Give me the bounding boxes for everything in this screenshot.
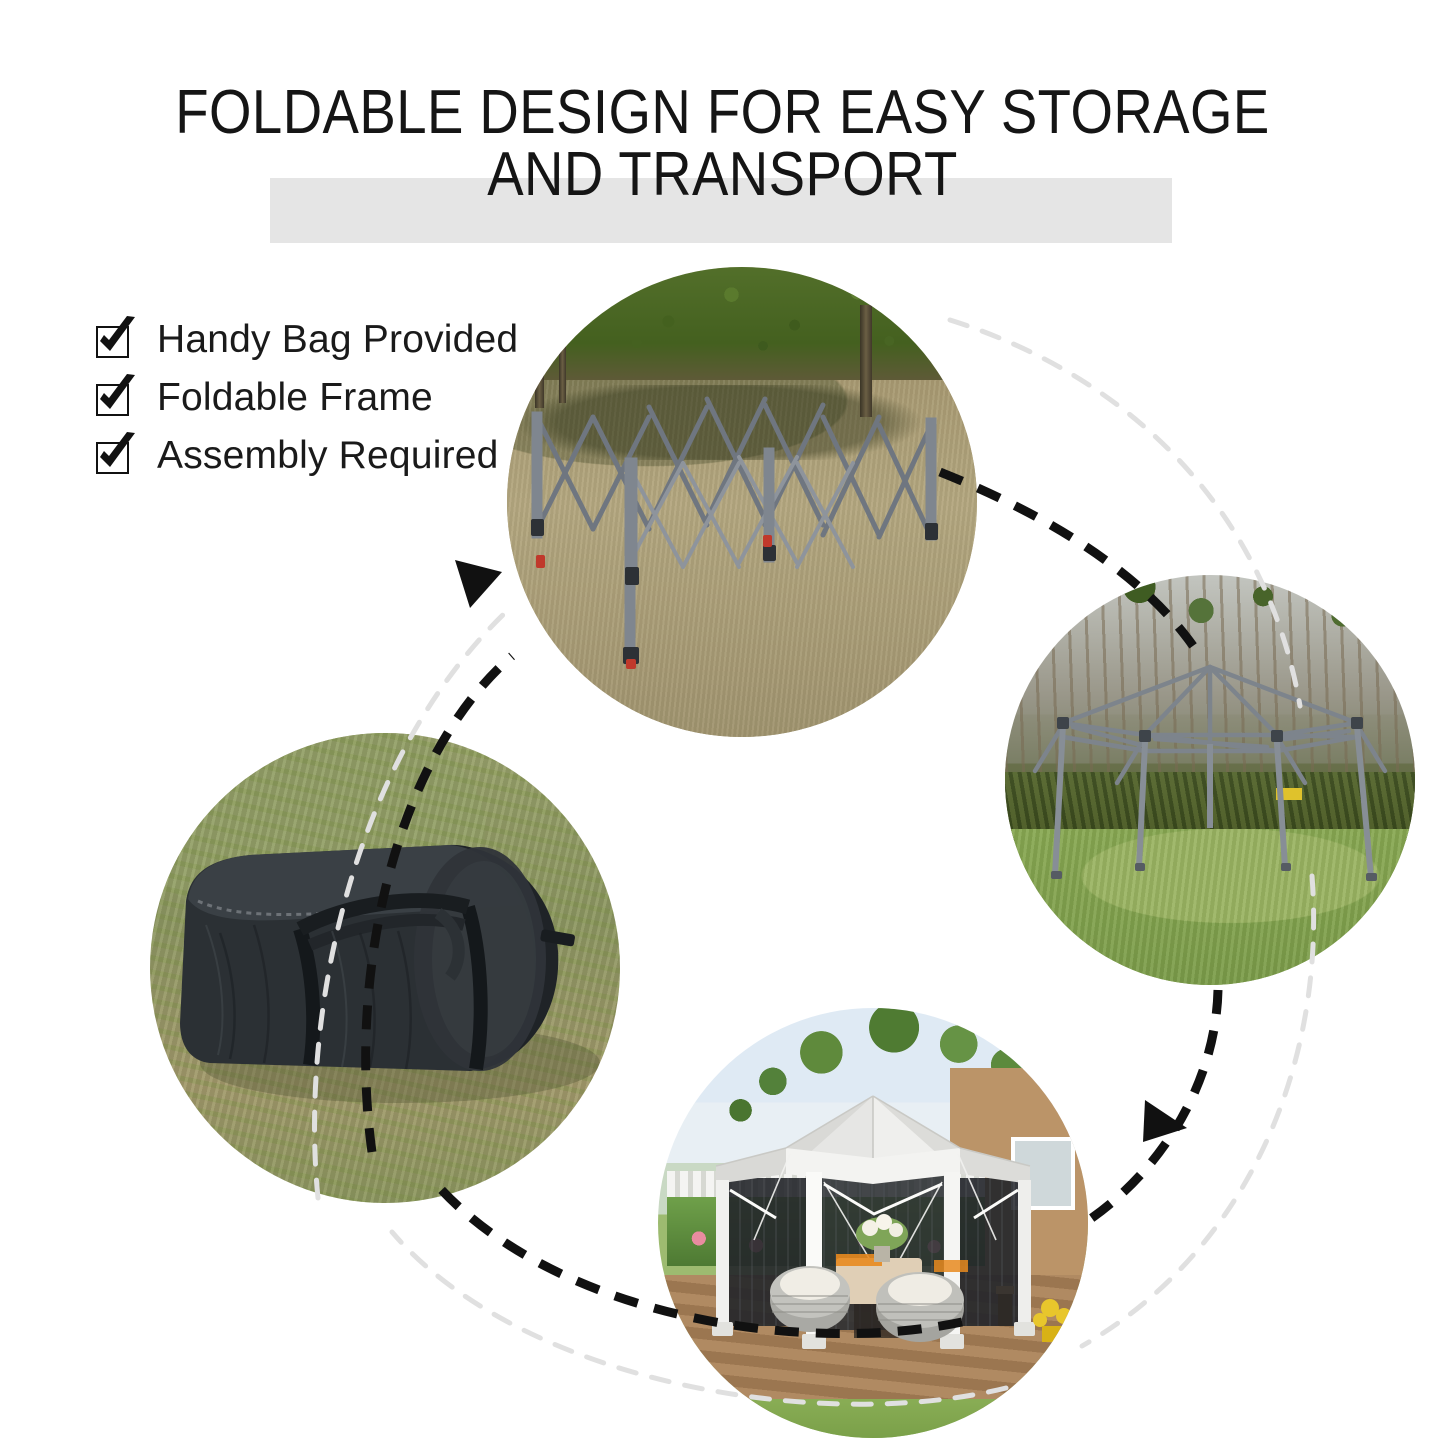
photo-gazebo-assembled — [658, 1008, 1088, 1438]
arrowhead-to-folded — [455, 560, 502, 608]
arrow-erect-to-gazebo — [1086, 990, 1218, 1222]
infographic-canvas: FOLDABLE DESIGN FOR EASY STORAGE AND TRA… — [0, 0, 1445, 1445]
list-item: Assembly Required — [95, 428, 518, 484]
list-item-label: Assembly Required — [157, 434, 499, 478]
photo-storage-bag — [150, 733, 620, 1203]
page-title-line-2: AND TRANSPORT — [140, 144, 1306, 206]
page-title: FOLDABLE DESIGN FOR EASY STORAGE AND TRA… — [140, 82, 1306, 206]
arrowhead-to-gazebo — [1143, 1100, 1187, 1142]
feature-checklist: Handy Bag Provided Foldable Frame Assemb… — [95, 312, 518, 486]
list-item-label: Foldable Frame — [157, 376, 433, 420]
list-item: Foldable Frame — [95, 370, 518, 426]
page-title-line-1: FOLDABLE DESIGN FOR EASY STORAGE — [175, 78, 1269, 147]
checkbox-checked-icon — [95, 321, 135, 359]
list-item: Handy Bag Provided — [95, 312, 518, 368]
list-item-label: Handy Bag Provided — [157, 318, 518, 362]
checkbox-checked-icon — [95, 437, 135, 475]
photo-frame-folded — [507, 267, 977, 737]
checkbox-checked-icon — [95, 379, 135, 417]
photo-frame-erect — [1005, 575, 1415, 985]
